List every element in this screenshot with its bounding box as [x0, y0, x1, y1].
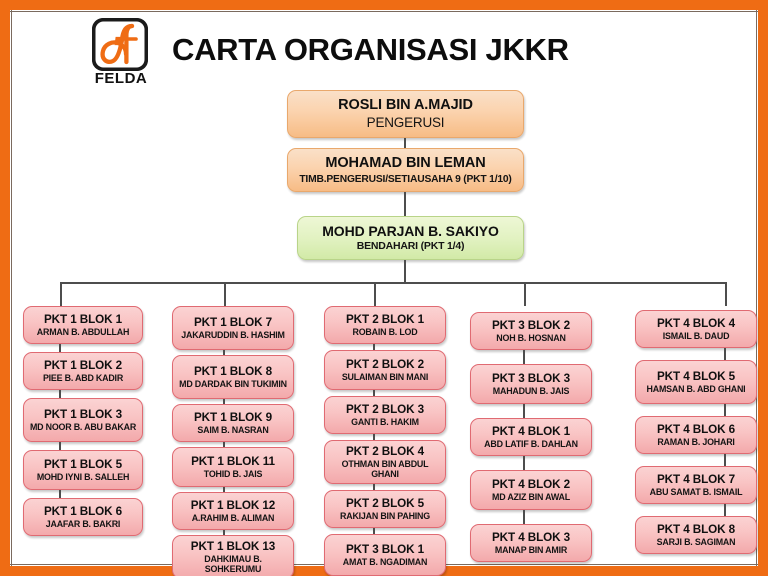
member-block-label: PKT 4 BLOK 5 — [657, 370, 735, 383]
member-node[interactable]: PKT 3 BLOK 2NOH B. HOSNAN — [470, 312, 592, 350]
connector-column-1-segment — [59, 344, 61, 352]
felda-logo: FELDA — [88, 18, 154, 90]
frame-border-left — [0, 0, 10, 576]
member-name: NOH B. HOSNAN — [496, 334, 565, 344]
exec-name: MOHAMAD BIN LEMAN — [325, 155, 485, 171]
member-node[interactable]: PKT 3 BLOK 1AMAT B. NGADIMAN — [324, 534, 446, 576]
member-node[interactable]: PKT 1 BLOK 11TOHID B. JAIS — [172, 447, 294, 487]
member-name: ISMAIL B. DAUD — [663, 332, 730, 342]
member-block-label: PKT 1 BLOK 9 — [194, 411, 272, 424]
connector-chairman-to-deputy — [404, 138, 406, 148]
member-name: SAIM B. NASRAN — [197, 426, 268, 436]
member-node[interactable]: PKT 2 BLOK 3GANTI B. HAKIM — [324, 396, 446, 434]
member-name: DAHKIMAU B. SOHKERUMU — [177, 555, 289, 574]
member-block-label: PKT 2 BLOK 4 — [346, 445, 424, 458]
member-block-label: PKT 3 BLOK 1 — [346, 543, 424, 556]
member-name: MD AZIZ BIN AWAL — [492, 493, 570, 503]
member-name: RAKIJAN BIN PAHING — [340, 512, 430, 522]
connector-drop-column-5 — [725, 282, 727, 306]
member-node[interactable]: PKT 1 BLOK 2PIEE B. ABD KADIR — [23, 352, 143, 390]
member-block-label: PKT 1 BLOK 2 — [44, 359, 122, 372]
member-node[interactable]: PKT 4 BLOK 6RAMAN B. JOHARI — [635, 416, 757, 454]
member-name: A.RAHIM B. ALIMAN — [192, 514, 275, 524]
connector-horizontal-bus — [60, 282, 726, 284]
member-block-label: PKT 1 BLOK 5 — [44, 458, 122, 471]
member-node[interactable]: PKT 1 BLOK 6JAAFAR B. BAKRI — [23, 498, 143, 536]
exec-position: TIMB.PENGERUSI/SETIAUSAHA 9 (PKT 1/10) — [299, 174, 511, 185]
page-title: CARTA ORGANISASI JKKR — [172, 32, 692, 68]
member-node[interactable]: PKT 1 BLOK 12A.RAHIM B. ALIMAN — [172, 492, 294, 530]
member-name: AMAT B. NGADIMAN — [343, 558, 427, 568]
connector-column-5-segment — [724, 348, 726, 360]
member-block-label: PKT 2 BLOK 1 — [346, 313, 424, 326]
frame-border-top — [0, 0, 768, 10]
member-node[interactable]: PKT 3 BLOK 3MAHADUN B. JAIS — [470, 364, 592, 404]
exec-position: PENGERUSI — [367, 116, 445, 131]
member-name: ROBAIN B. LOD — [353, 328, 418, 338]
member-name: MD NOOR B. ABU BAKAR — [30, 423, 136, 433]
member-name: SULAIMAN BIN MANI — [342, 373, 428, 383]
member-block-label: PKT 1 BLOK 13 — [191, 540, 275, 553]
connector-column-1-segment — [59, 442, 61, 450]
member-name: JAKARUDDIN B. HASHIM — [181, 331, 285, 341]
member-block-label: PKT 2 BLOK 3 — [346, 403, 424, 416]
member-node[interactable]: PKT 1 BLOK 13DAHKIMAU B. SOHKERUMU — [172, 535, 294, 576]
exec-node-chairman[interactable]: ROSLI BIN A.MAJID PENGERUSI — [287, 90, 524, 138]
connector-drop-column-3 — [374, 282, 376, 306]
member-node[interactable]: PKT 4 BLOK 1ABD LATIF B. DAHLAN — [470, 418, 592, 456]
member-name: HAMSAN B. ABD GHANI — [647, 385, 746, 395]
member-name: MAHADUN B. JAIS — [493, 387, 569, 397]
member-node[interactable]: PKT 4 BLOK 7ABU SAMAT B. ISMAIL — [635, 466, 757, 504]
member-block-label: PKT 1 BLOK 3 — [44, 408, 122, 421]
chart-canvas: FELDA CARTA ORGANISASI JKKR ROSLI BIN A.… — [12, 12, 756, 564]
member-block-label: PKT 1 BLOK 11 — [191, 455, 275, 468]
member-name: RAMAN B. JOHARI — [657, 438, 734, 448]
member-node[interactable]: PKT 2 BLOK 1ROBAIN B. LOD — [324, 306, 446, 344]
member-block-label: PKT 4 BLOK 6 — [657, 423, 735, 436]
member-block-label: PKT 4 BLOK 2 — [492, 478, 570, 491]
member-name: MOHD IYNI B. SALLEH — [37, 473, 129, 483]
connector-column-5-segment — [724, 504, 726, 516]
member-name: TOHID B. JAIS — [204, 470, 262, 480]
member-node[interactable]: PKT 4 BLOK 5HAMSAN B. ABD GHANI — [635, 360, 757, 404]
member-node[interactable]: PKT 1 BLOK 8MD DARDAK BIN TUKIMIN — [172, 355, 294, 399]
member-name: JAAFAR B. BAKRI — [46, 520, 120, 530]
member-block-label: PKT 4 BLOK 7 — [657, 473, 735, 486]
member-node[interactable]: PKT 1 BLOK 9SAIM B. NASRAN — [172, 404, 294, 442]
member-node[interactable]: PKT 4 BLOK 2MD AZIZ BIN AWAL — [470, 470, 592, 510]
connector-column-4-segment — [523, 404, 525, 418]
member-node[interactable]: PKT 2 BLOK 5RAKIJAN BIN PAHING — [324, 490, 446, 528]
member-node[interactable]: PKT 1 BLOK 5MOHD IYNI B. SALLEH — [23, 450, 143, 490]
connector-column-4-segment — [523, 510, 525, 524]
member-node[interactable]: PKT 2 BLOK 2SULAIMAN BIN MANI — [324, 350, 446, 390]
member-node[interactable]: PKT 1 BLOK 3MD NOOR B. ABU BAKAR — [23, 398, 143, 442]
chart-header: FELDA CARTA ORGANISASI JKKR — [12, 12, 756, 90]
member-block-label: PKT 1 BLOK 6 — [44, 505, 122, 518]
exec-node-deputy-chairman[interactable]: MOHAMAD BIN LEMAN TIMB.PENGERUSI/SETIAUS… — [287, 148, 524, 192]
member-name: MD DARDAK BIN TUKIMIN — [179, 380, 287, 390]
connector-drop-column-4 — [524, 282, 526, 306]
connector-column-1-segment — [59, 390, 61, 398]
member-node[interactable]: PKT 1 BLOK 7JAKARUDDIN B. HASHIM — [172, 306, 294, 350]
connector-column-4-segment — [523, 350, 525, 364]
member-block-label: PKT 2 BLOK 2 — [346, 358, 424, 371]
member-node[interactable]: PKT 1 BLOK 1ARMAN B. ABDULLAH — [23, 306, 143, 344]
member-name: ARMAN B. ABDULLAH — [37, 328, 129, 338]
connector-treasurer-trunk — [404, 260, 406, 284]
member-block-label: PKT 4 BLOK 8 — [657, 523, 735, 536]
member-block-label: PKT 4 BLOK 4 — [657, 317, 735, 330]
frame-border-right — [758, 0, 768, 576]
connector-deputy-to-treasurer — [404, 192, 406, 216]
connector-drop-column-1 — [60, 282, 62, 306]
member-name: PIEE B. ABD KADIR — [43, 374, 123, 384]
member-block-label: PKT 1 BLOK 7 — [194, 316, 272, 329]
connector-column-4-segment — [523, 456, 525, 470]
member-block-label: PKT 1 BLOK 12 — [191, 499, 275, 512]
connector-column-1-segment — [59, 490, 61, 498]
member-name: OTHMAN BIN ABDUL GHANI — [329, 460, 441, 479]
member-block-label: PKT 3 BLOK 3 — [492, 372, 570, 385]
felda-logo-text: FELDA — [88, 70, 154, 87]
member-block-label: PKT 4 BLOK 3 — [492, 531, 570, 544]
exec-name: ROSLI BIN A.MAJID — [338, 97, 473, 113]
exec-node-treasurer[interactable]: MOHD PARJAN B. SAKIYO BENDAHARI (PKT 1/4… — [297, 216, 524, 260]
member-block-label: PKT 2 BLOK 5 — [346, 497, 424, 510]
member-name: MANAP BIN AMIR — [495, 546, 567, 556]
member-block-label: PKT 1 BLOK 1 — [44, 313, 122, 326]
exec-name: MOHD PARJAN B. SAKIYO — [322, 224, 499, 240]
member-block-label: PKT 4 BLOK 1 — [492, 425, 570, 438]
member-node[interactable]: PKT 2 BLOK 4OTHMAN BIN ABDUL GHANI — [324, 440, 446, 484]
member-node[interactable]: PKT 4 BLOK 3MANAP BIN AMIR — [470, 524, 592, 562]
member-block-label: PKT 3 BLOK 2 — [492, 319, 570, 332]
member-name: ABD LATIF B. DAHLAN — [484, 440, 578, 450]
member-block-label: PKT 1 BLOK 8 — [194, 365, 272, 378]
felda-logo-icon — [92, 18, 148, 71]
org-chart-page: FELDA CARTA ORGANISASI JKKR ROSLI BIN A.… — [0, 0, 768, 576]
connector-drop-column-2 — [224, 282, 226, 306]
connector-column-5-segment — [724, 454, 726, 466]
member-node[interactable]: PKT 4 BLOK 4ISMAIL B. DAUD — [635, 310, 757, 348]
member-node[interactable]: PKT 4 BLOK 8SARJI B. SAGIMAN — [635, 516, 757, 554]
member-name: ABU SAMAT B. ISMAIL — [650, 488, 743, 498]
exec-position: BENDAHARI (PKT 1/4) — [357, 241, 465, 252]
member-name: GANTI B. HAKIM — [351, 418, 419, 428]
connector-column-5-segment — [724, 404, 726, 416]
member-name: SARJI B. SAGIMAN — [657, 538, 736, 548]
